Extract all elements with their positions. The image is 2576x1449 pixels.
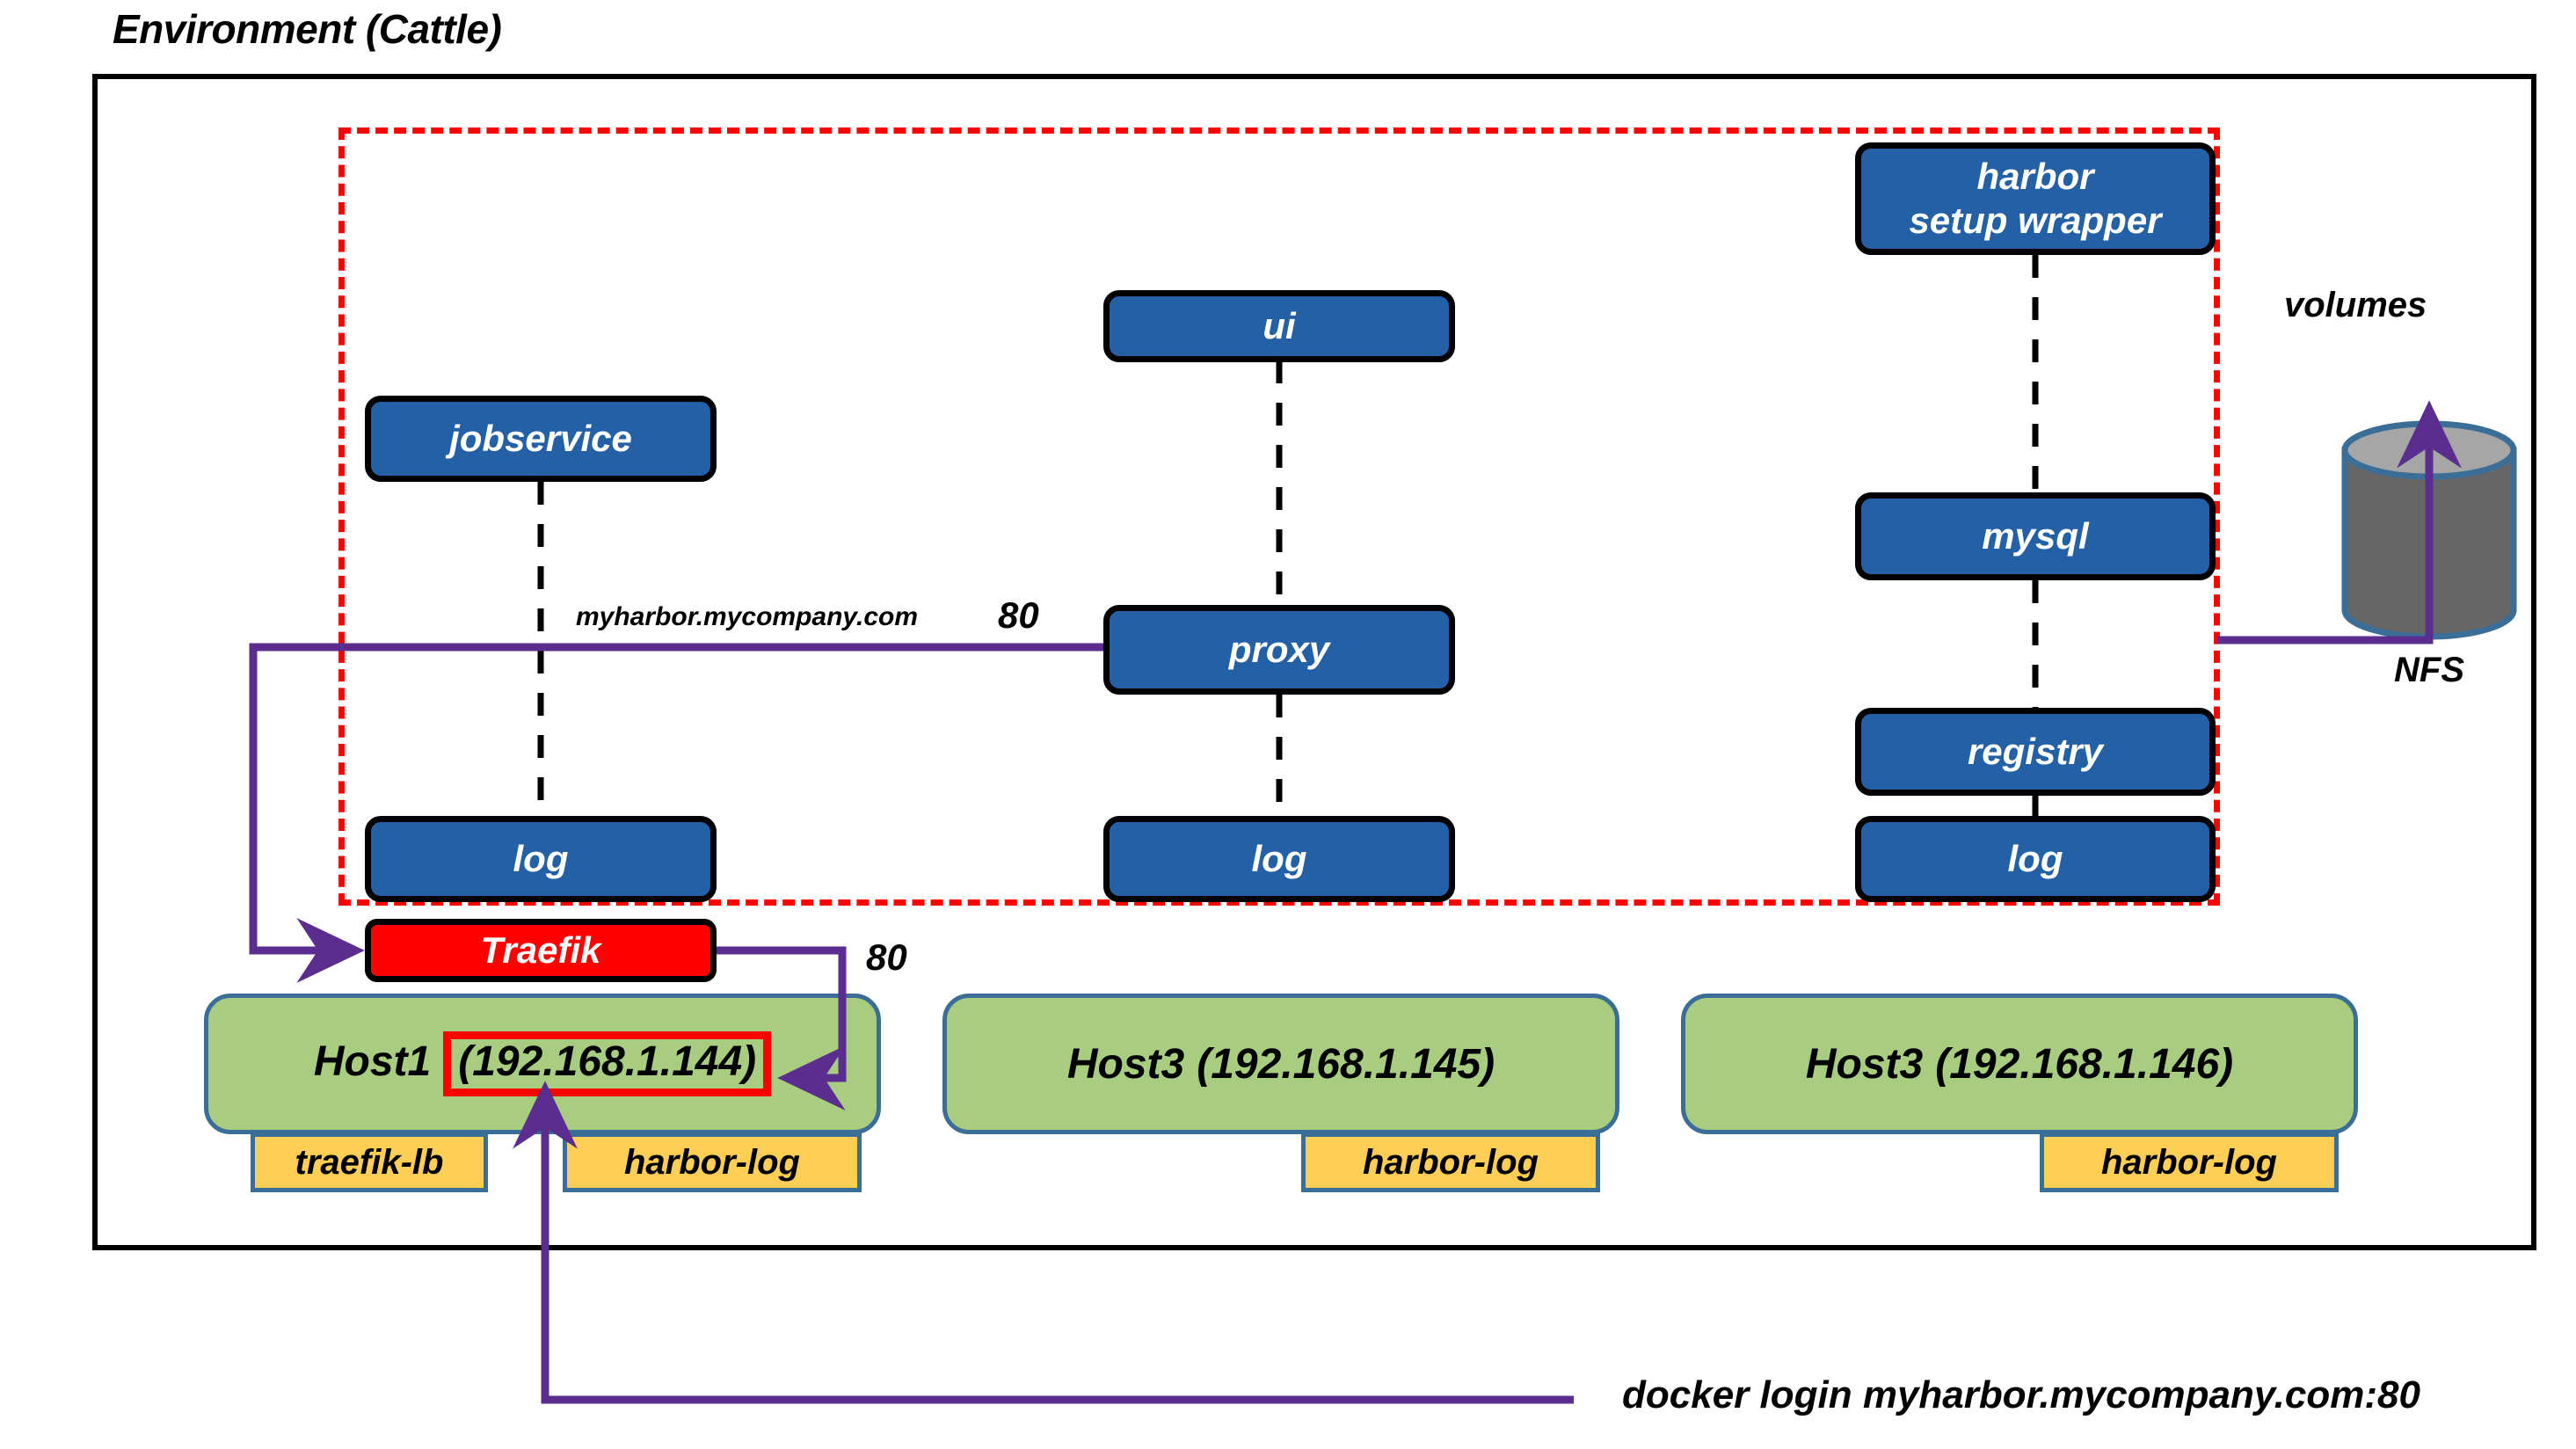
annotation-port-proxy: 80	[998, 594, 1039, 637]
traefik-label: Traefik	[481, 929, 601, 972]
service-label: log	[513, 838, 569, 879]
host-ip: (192.168.1.146)	[1935, 1040, 2233, 1089]
host-label-1: Host1 (192.168.1.144)	[314, 1031, 771, 1096]
stack-tag-harbor-log-host2[interactable]: harbor-log	[1301, 1132, 1600, 1192]
service-box-harbor-setup-wrapper[interactable]: harbor setup wrapper	[1855, 142, 2216, 255]
environment-title: Environment (Cattle)	[113, 5, 501, 53]
service-box-log-right[interactable]: log	[1855, 816, 2216, 902]
traefik-load-balancer-box[interactable]: Traefik	[365, 919, 717, 982]
host-name: Host1	[314, 1038, 431, 1086]
nfs-label: NFS	[2341, 651, 2517, 690]
annotation-port-traefik: 80	[866, 936, 907, 979]
service-label: log	[2008, 838, 2063, 879]
service-label-line2: setup wrapper	[1909, 199, 2161, 243]
host-label-3: Host3 (192.168.1.146)	[1806, 1040, 2233, 1089]
host-label-2: Host3 (192.168.1.145)	[1067, 1040, 1495, 1089]
host-ip: (192.168.1.145)	[1197, 1040, 1495, 1089]
tag-label: harbor-log	[624, 1143, 800, 1183]
service-box-jobservice[interactable]: jobservice	[365, 396, 717, 482]
host-name: Host3	[1806, 1040, 1923, 1089]
annotation-volumes: volumes	[2284, 286, 2427, 325]
host-box-2[interactable]: Host3 (192.168.1.145)	[942, 994, 1619, 1134]
stack-tag-traefik-lb[interactable]: traefik-lb	[251, 1132, 488, 1192]
service-label-line1: harbor	[1976, 155, 2093, 199]
service-label: proxy	[1229, 629, 1329, 670]
tag-label: traefik-lb	[295, 1143, 444, 1183]
service-label: jobservice	[449, 418, 632, 459]
service-box-proxy[interactable]: proxy	[1103, 605, 1455, 695]
host-name: Host3	[1067, 1040, 1184, 1089]
host-ip-highlighted: (192.168.1.144)	[443, 1031, 771, 1096]
host-box-1[interactable]: Host1 (192.168.1.144)	[204, 994, 881, 1134]
service-box-registry[interactable]: registry	[1855, 708, 2216, 796]
service-label: ui	[1263, 305, 1295, 346]
stack-tag-harbor-log-host3[interactable]: harbor-log	[2040, 1132, 2339, 1192]
nfs-storage-icon	[2341, 420, 2517, 640]
service-label: mysql	[1982, 515, 2088, 557]
service-box-ui[interactable]: ui	[1103, 290, 1455, 362]
service-label: registry	[1968, 731, 2103, 772]
service-box-log-middle[interactable]: log	[1103, 816, 1455, 902]
host-box-3[interactable]: Host3 (192.168.1.146)	[1681, 994, 2358, 1134]
tag-label: harbor-log	[1363, 1143, 1539, 1183]
annotation-docker-login: docker login myharbor.mycompany.com:80	[1622, 1373, 2420, 1417]
annotation-domain: myharbor.mycompany.com	[576, 602, 918, 632]
tag-label: harbor-log	[2101, 1143, 2277, 1183]
service-box-mysql[interactable]: mysql	[1855, 492, 2216, 580]
stack-tag-harbor-log-host1[interactable]: harbor-log	[563, 1132, 862, 1192]
service-box-log-left[interactable]: log	[365, 816, 717, 902]
diagram-canvas: Environment (Cattle) jobservice log ui p…	[0, 0, 2576, 1449]
service-label: log	[1252, 838, 1307, 879]
